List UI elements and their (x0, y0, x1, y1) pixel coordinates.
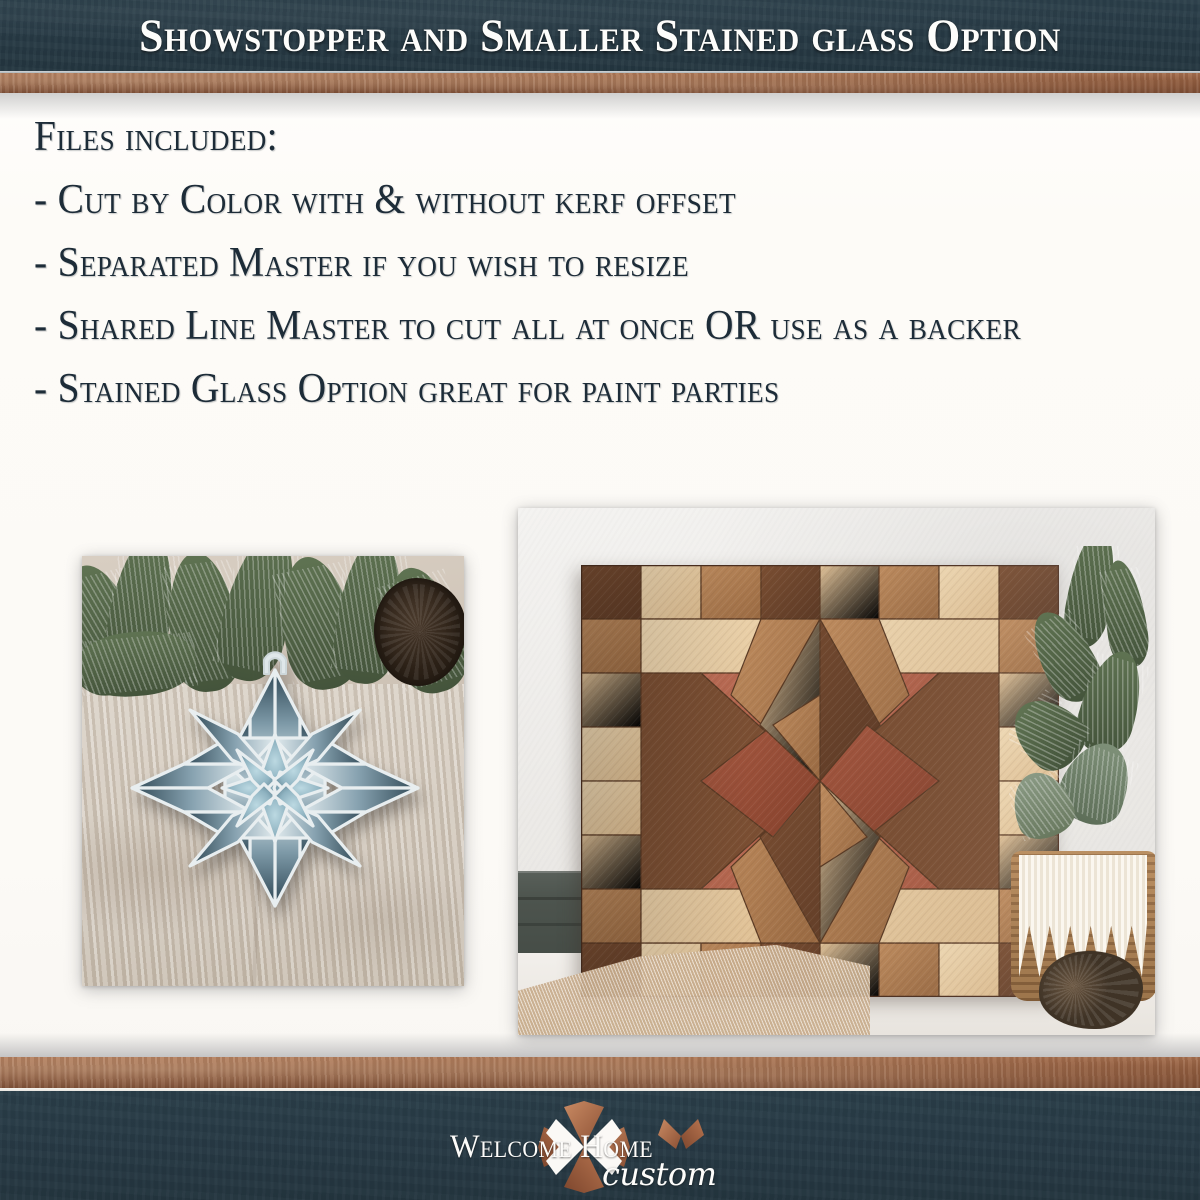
brand-name-secondary: custom (602, 1155, 716, 1193)
files-included-item-1: - Cut by Color with & without kerf offse… (34, 169, 1106, 232)
files-included-list: Files included: - Cut by Color with & wi… (34, 106, 1174, 421)
header-wood-trim (0, 73, 1200, 93)
footer-shadow-fade (0, 1033, 1200, 1057)
product-photo-stained-glass-ornament[interactable] (82, 556, 464, 986)
files-included-item-4: - Stained Glass Option great for paint p… (34, 358, 1106, 421)
wood-quilt-star-panel-graphic (581, 565, 1059, 997)
footer-wood-trim (0, 1057, 1200, 1088)
files-included-item-2: - Separated Master if you wish to resize (34, 232, 1106, 295)
pinecone-cluster-icon (1039, 951, 1143, 1029)
brand-logo[interactable]: Welcome Home custom (0, 1091, 1200, 1200)
header-hairline-divider (0, 71, 1200, 73)
poster-canvas: Showstopper and Smaller Stained glass Op… (0, 0, 1200, 1200)
files-included-heading: Files included: (34, 106, 1106, 169)
stained-glass-star-graphic (104, 614, 444, 962)
evergreen-and-eucalyptus-decor (1009, 546, 1155, 876)
files-included-item-3: - Shared Line Master to cut all at once … (34, 295, 1106, 358)
page-title: Showstopper and Smaller Stained glass Op… (42, 0, 1158, 72)
product-photo-wood-quilt-star[interactable] (518, 508, 1155, 1035)
